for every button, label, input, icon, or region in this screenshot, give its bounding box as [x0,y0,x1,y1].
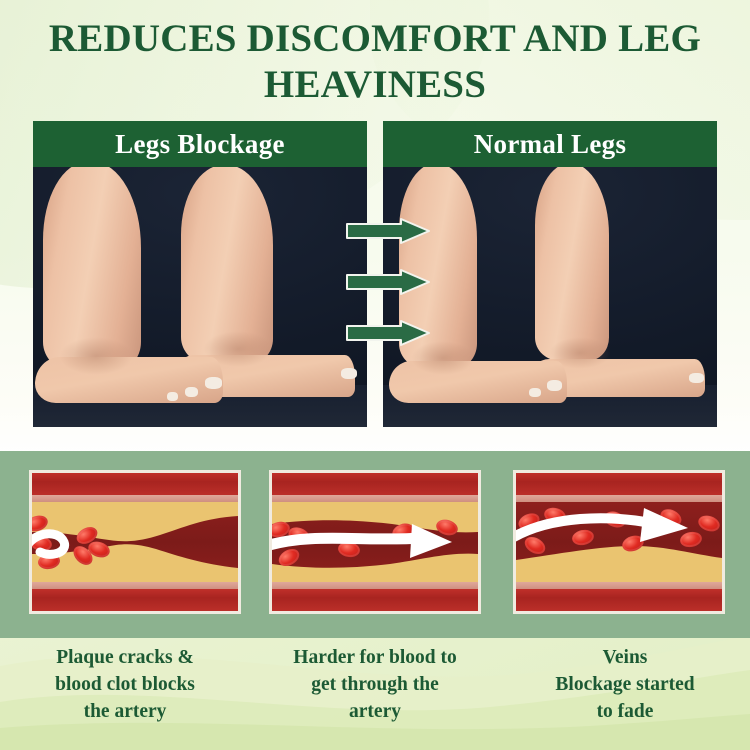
caption-stage-3: Veins Blockage started to fade [500,645,750,750]
transition-arrows [345,218,431,348]
toenail-front-2 [529,388,541,397]
toenail-front-3 [167,392,178,401]
caption-stage-2: Harder for blood to get through the arte… [250,645,500,750]
vessel-wall-bottom [272,589,478,611]
caption-stage-2-line-1: Harder for blood to [260,645,490,672]
vessel-wall-line-top [272,495,478,502]
panel-header-legs-blockage: Legs Blockage [33,121,367,167]
vessel-wall-bottom [516,589,722,611]
transition-arrow-1 [345,218,431,244]
toenail-front-1 [547,380,562,391]
page-title-line-2: HEAVINESS [0,62,750,108]
photo-normal-legs [383,167,717,427]
arrow-right-icon [345,269,431,295]
caption-stage-1-line-3: the artery [10,699,240,726]
caption-stage-2-line-3: artery [260,699,490,726]
vessel-wall-line-bottom [272,582,478,589]
panel-legs-blockage: Legs Blockage [33,121,367,427]
blocked-flow-arrow-icon [32,502,238,582]
caption-stage-3-line-2: Blockage started [510,672,740,699]
toenail-front-1 [205,377,222,389]
artery-illustration-restricted [269,470,481,614]
ankle-shading-front [59,337,133,375]
caption-stage-3-line-1: Veins [510,645,740,672]
toenail-front-2 [185,387,198,397]
page-title-line-1: REDUCES DISCOMFORT AND LEG [0,16,750,62]
poster-root: REDUCES DISCOMFORT AND LEG HEAVINESS Leg… [0,0,750,750]
vessel-wall-line-bottom [32,582,238,589]
leg-back-calf-normal [535,167,609,361]
vessel-lumen [272,502,478,582]
vessel-lumen [516,502,722,582]
vessel-wall-line-bottom [516,582,722,589]
vessel-wall-bottom [32,589,238,611]
vessel-wall-top [516,473,722,495]
page-title: REDUCES DISCOMFORT AND LEG HEAVINESS [0,16,750,108]
open-flow-arrow-icon [516,502,722,582]
vessel-wall-line-top [516,495,722,502]
vessel-wall-top [272,473,478,495]
toenail-back [689,373,704,383]
vessel-lumen [32,502,238,582]
caption-stage-3-line-3: to fade [510,699,740,726]
restricted-flow-arrow-icon [272,502,478,582]
transition-arrow-2 [345,269,431,295]
vessel-wall-top [32,473,238,495]
artery-stages-band [0,451,750,638]
arrow-right-icon [345,320,431,346]
panel-normal-legs: Normal Legs [383,121,717,427]
artery-illustration-blocked [29,470,241,614]
vessel-wall-line-top [32,495,238,502]
artery-illustration-open [513,470,725,614]
toenail-back [341,368,357,379]
caption-stage-1: Plaque cracks & blood clot blocks the ar… [0,645,250,750]
artery-stage-captions: Plaque cracks & blood clot blocks the ar… [0,645,750,750]
caption-stage-1-line-2: blood clot blocks [10,672,240,699]
arrow-right-icon [345,218,431,244]
caption-stage-1-line-1: Plaque cracks & [10,645,240,672]
transition-arrow-3 [345,320,431,346]
panel-header-normal-legs: Normal Legs [383,121,717,167]
photo-legs-blockage [33,167,367,427]
caption-stage-2-line-2: get through the [260,672,490,699]
